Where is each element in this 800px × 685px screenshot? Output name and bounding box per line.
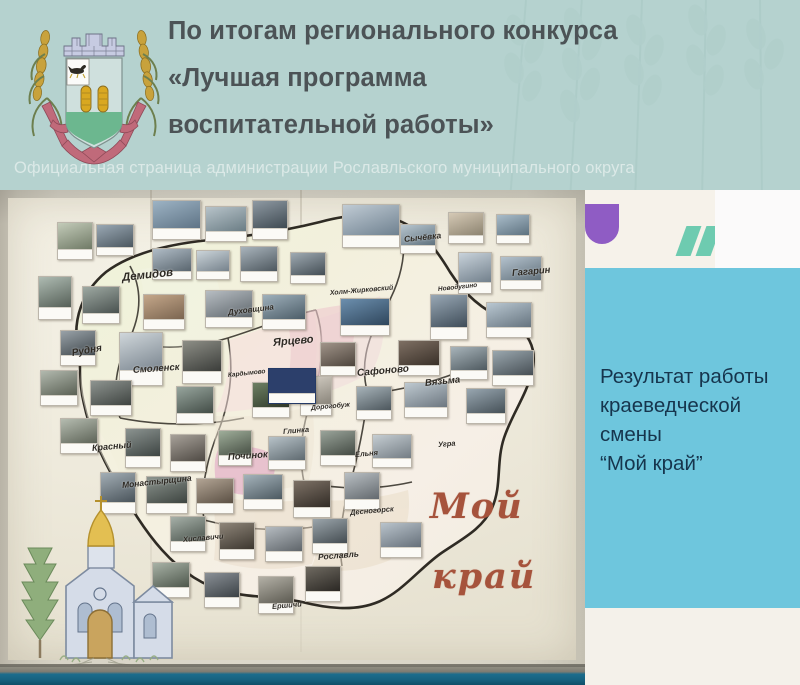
title-line-2: «Лучшая программа bbox=[168, 55, 788, 102]
photo-card bbox=[152, 200, 201, 240]
photo-card bbox=[196, 250, 230, 280]
side-panel: 7 ШКОЛА МБОУ СШ РОСЛАВЛЬ Результат работ… bbox=[585, 190, 800, 685]
photo-card bbox=[372, 434, 412, 468]
photo-card bbox=[320, 430, 356, 466]
map-label: Угра bbox=[438, 438, 456, 448]
photo-card bbox=[448, 212, 484, 244]
photo-card bbox=[176, 386, 214, 424]
photo-card bbox=[466, 388, 506, 424]
photo-card bbox=[344, 472, 380, 510]
photo-card bbox=[57, 222, 93, 260]
photo-card bbox=[486, 302, 532, 338]
photo-card bbox=[305, 566, 341, 602]
handwritten-kray: край bbox=[432, 556, 536, 597]
photo-card bbox=[243, 474, 283, 510]
photo-card bbox=[96, 224, 134, 256]
page-header: По итогам регионального конкурса «Лучшая… bbox=[0, 0, 800, 190]
photo-card bbox=[38, 276, 72, 320]
photo-card bbox=[265, 526, 303, 562]
photo-card bbox=[342, 204, 400, 248]
photo-card bbox=[340, 298, 390, 336]
photo-card bbox=[496, 214, 530, 244]
photo-card bbox=[268, 436, 306, 470]
photo-card bbox=[290, 252, 326, 284]
handwritten-moy: Мой bbox=[430, 486, 524, 527]
social-media-post: По итогам регионального конкурса «Лучшая… bbox=[0, 0, 800, 685]
photo-card bbox=[320, 342, 356, 376]
photo-card bbox=[182, 340, 222, 384]
title-line-1: По итогам регионального конкурса bbox=[168, 8, 788, 55]
photo-card bbox=[196, 478, 234, 514]
photo-card bbox=[170, 434, 206, 472]
side-caption-line-4: “Мой край” bbox=[600, 449, 800, 478]
board-edge bbox=[0, 667, 585, 685]
photo-card bbox=[119, 332, 163, 386]
photo-card bbox=[219, 522, 255, 560]
photo-card bbox=[430, 294, 468, 340]
photo-card bbox=[293, 480, 331, 518]
photo-card bbox=[380, 522, 422, 558]
side-caption: Результат работы краеведческой смены “Мо… bbox=[600, 362, 800, 478]
photo-card bbox=[82, 286, 120, 324]
photo-card bbox=[204, 572, 240, 608]
photo-card bbox=[240, 246, 278, 282]
side-caption-line-2: краеведческой bbox=[600, 391, 800, 420]
photo-card bbox=[356, 386, 392, 420]
photo-card bbox=[205, 206, 247, 242]
map-poster-photo: ДемидовДуховщинаРудняСмоленскЯрцевоХолм-… bbox=[0, 190, 585, 685]
side-caption-line-3: смены bbox=[600, 420, 800, 449]
coat-of-arms-roslavl bbox=[20, 14, 168, 174]
photo-card-crest bbox=[268, 368, 316, 404]
photo-card bbox=[252, 200, 288, 240]
photo-card bbox=[40, 370, 78, 406]
page-subtitle: Официальная страница администрации Росла… bbox=[14, 159, 794, 178]
purple-semicircle-shape bbox=[585, 204, 619, 244]
drawn-church-illustration bbox=[10, 490, 200, 665]
header-title-block: По итогам регионального конкурса «Лучшая… bbox=[168, 8, 788, 163]
title-line-3: воспитательной работы» bbox=[168, 102, 788, 149]
photo-card bbox=[492, 350, 534, 386]
photo-card bbox=[143, 294, 185, 330]
side-caption-line-1: Результат работы bbox=[600, 362, 800, 391]
photo-card bbox=[90, 380, 132, 416]
photo-card bbox=[312, 518, 348, 554]
